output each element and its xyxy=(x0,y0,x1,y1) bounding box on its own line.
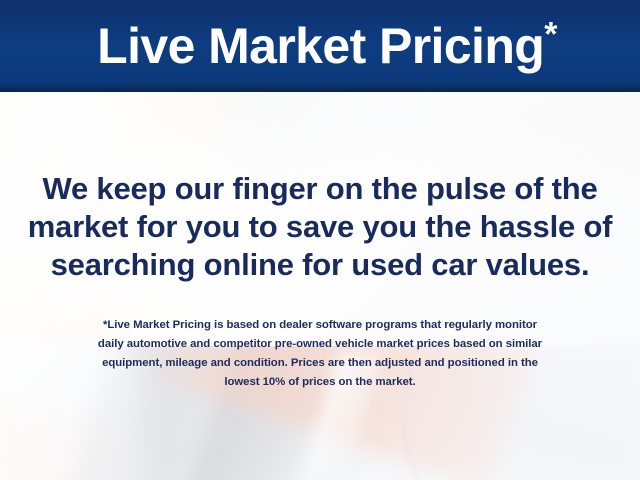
live-market-pricing-card: Live Market Pricing* We keep our finger … xyxy=(0,0,640,480)
content-area: We keep our finger on the pulse of the m… xyxy=(0,92,640,480)
disclaimer-line-3: equipment, mileage and condition. Prices… xyxy=(36,354,604,373)
disclaimer-text: *Live Market Pricing is based on dealer … xyxy=(36,316,604,392)
title-footnote-marker: * xyxy=(544,15,557,53)
headline-line-1: We keep our finger on the pulse of the xyxy=(22,170,618,208)
header-banner: Live Market Pricing* xyxy=(0,0,640,92)
disclaimer-line-4: lowest 10% of prices on the market. xyxy=(36,373,604,392)
disclaimer-line-1: *Live Market Pricing is based on dealer … xyxy=(36,316,604,335)
headline-line-3: searching online for used car values. xyxy=(22,246,618,284)
headline-line-2: market for you to save you the hassle of xyxy=(22,208,618,246)
page-title-text: Live Market Pricing xyxy=(97,18,544,74)
page-title: Live Market Pricing* xyxy=(83,21,557,71)
headline: We keep our finger on the pulse of the m… xyxy=(0,170,640,284)
disclaimer-line-2: daily automotive and competitor pre-owne… xyxy=(36,335,604,354)
